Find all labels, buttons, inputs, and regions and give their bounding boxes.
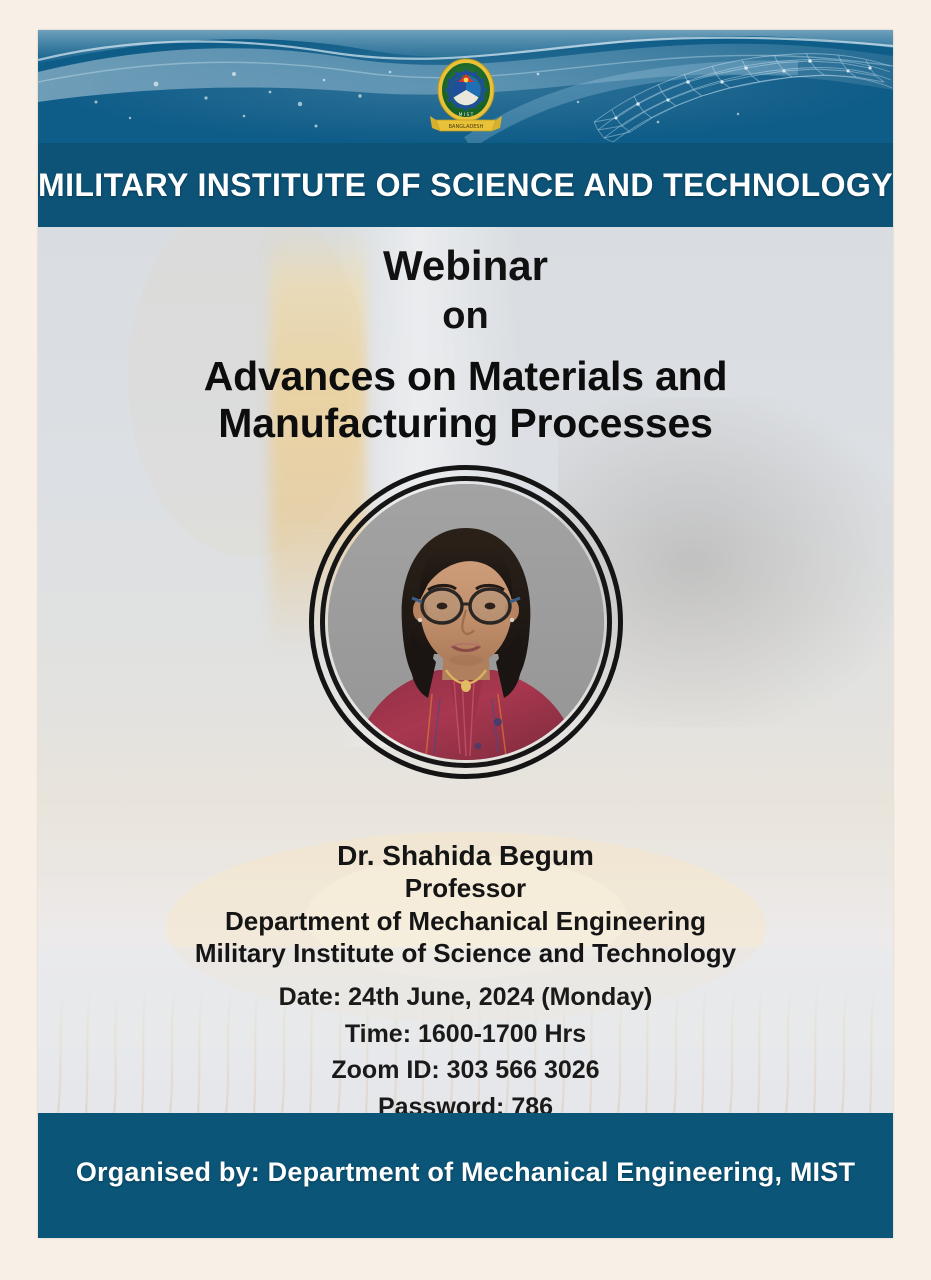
- organised-by-text: Organised by: Department of Mechanical E…: [38, 1157, 893, 1194]
- speaker-info: Dr. Shahida Begum Professor Department o…: [38, 839, 893, 969]
- svg-text:M I S T: M I S T: [458, 112, 473, 118]
- speaker-organization: Military Institute of Science and Techno…: [38, 937, 893, 969]
- title-block: Webinar on Advances on Materials and Man…: [38, 241, 893, 448]
- detail-date: Date: 24th June, 2024 (Monday): [38, 979, 893, 1016]
- footer-bar: Organised by: Department of Mechanical E…: [38, 1113, 893, 1238]
- detail-time: Time: 1600-1700 Hrs: [38, 1016, 893, 1053]
- portrait-outer-ring: [309, 465, 623, 779]
- detail-zoom-id[interactable]: Zoom ID: 303 566 3026: [38, 1052, 893, 1089]
- title-on: on: [38, 293, 893, 339]
- title-webinar: Webinar: [38, 241, 893, 291]
- poster-page: BANGLADESH M I S T MILITARY INSTITUTE OF…: [0, 0, 931, 1280]
- svg-text:BANGLADESH: BANGLADESH: [448, 124, 483, 130]
- poster-card: BANGLADESH M I S T MILITARY INSTITUTE OF…: [38, 30, 893, 1238]
- institution-header-bar: MILITARY INSTITUTE OF SCIENCE AND TECHNO…: [38, 143, 893, 227]
- speaker-designation: Professor: [38, 873, 893, 905]
- speaker-portrait: [309, 465, 623, 779]
- speaker-name: Dr. Shahida Begum: [38, 839, 893, 873]
- poster-body: Webinar on Advances on Materials and Man…: [38, 227, 893, 1113]
- event-details: Date: 24th June, 2024 (Monday) Time: 160…: [38, 979, 893, 1113]
- speaker-department: Department of Mechanical Engineering: [38, 905, 893, 937]
- institution-name: MILITARY INSTITUTE OF SCIENCE AND TECHNO…: [38, 167, 893, 204]
- mist-crest-icon: BANGLADESH M I S T: [428, 56, 504, 140]
- detail-password[interactable]: Password: 786: [38, 1089, 893, 1114]
- title-topic-line2: Manufacturing Processes: [38, 400, 893, 448]
- title-topic-line1: Advances on Materials and: [38, 353, 893, 401]
